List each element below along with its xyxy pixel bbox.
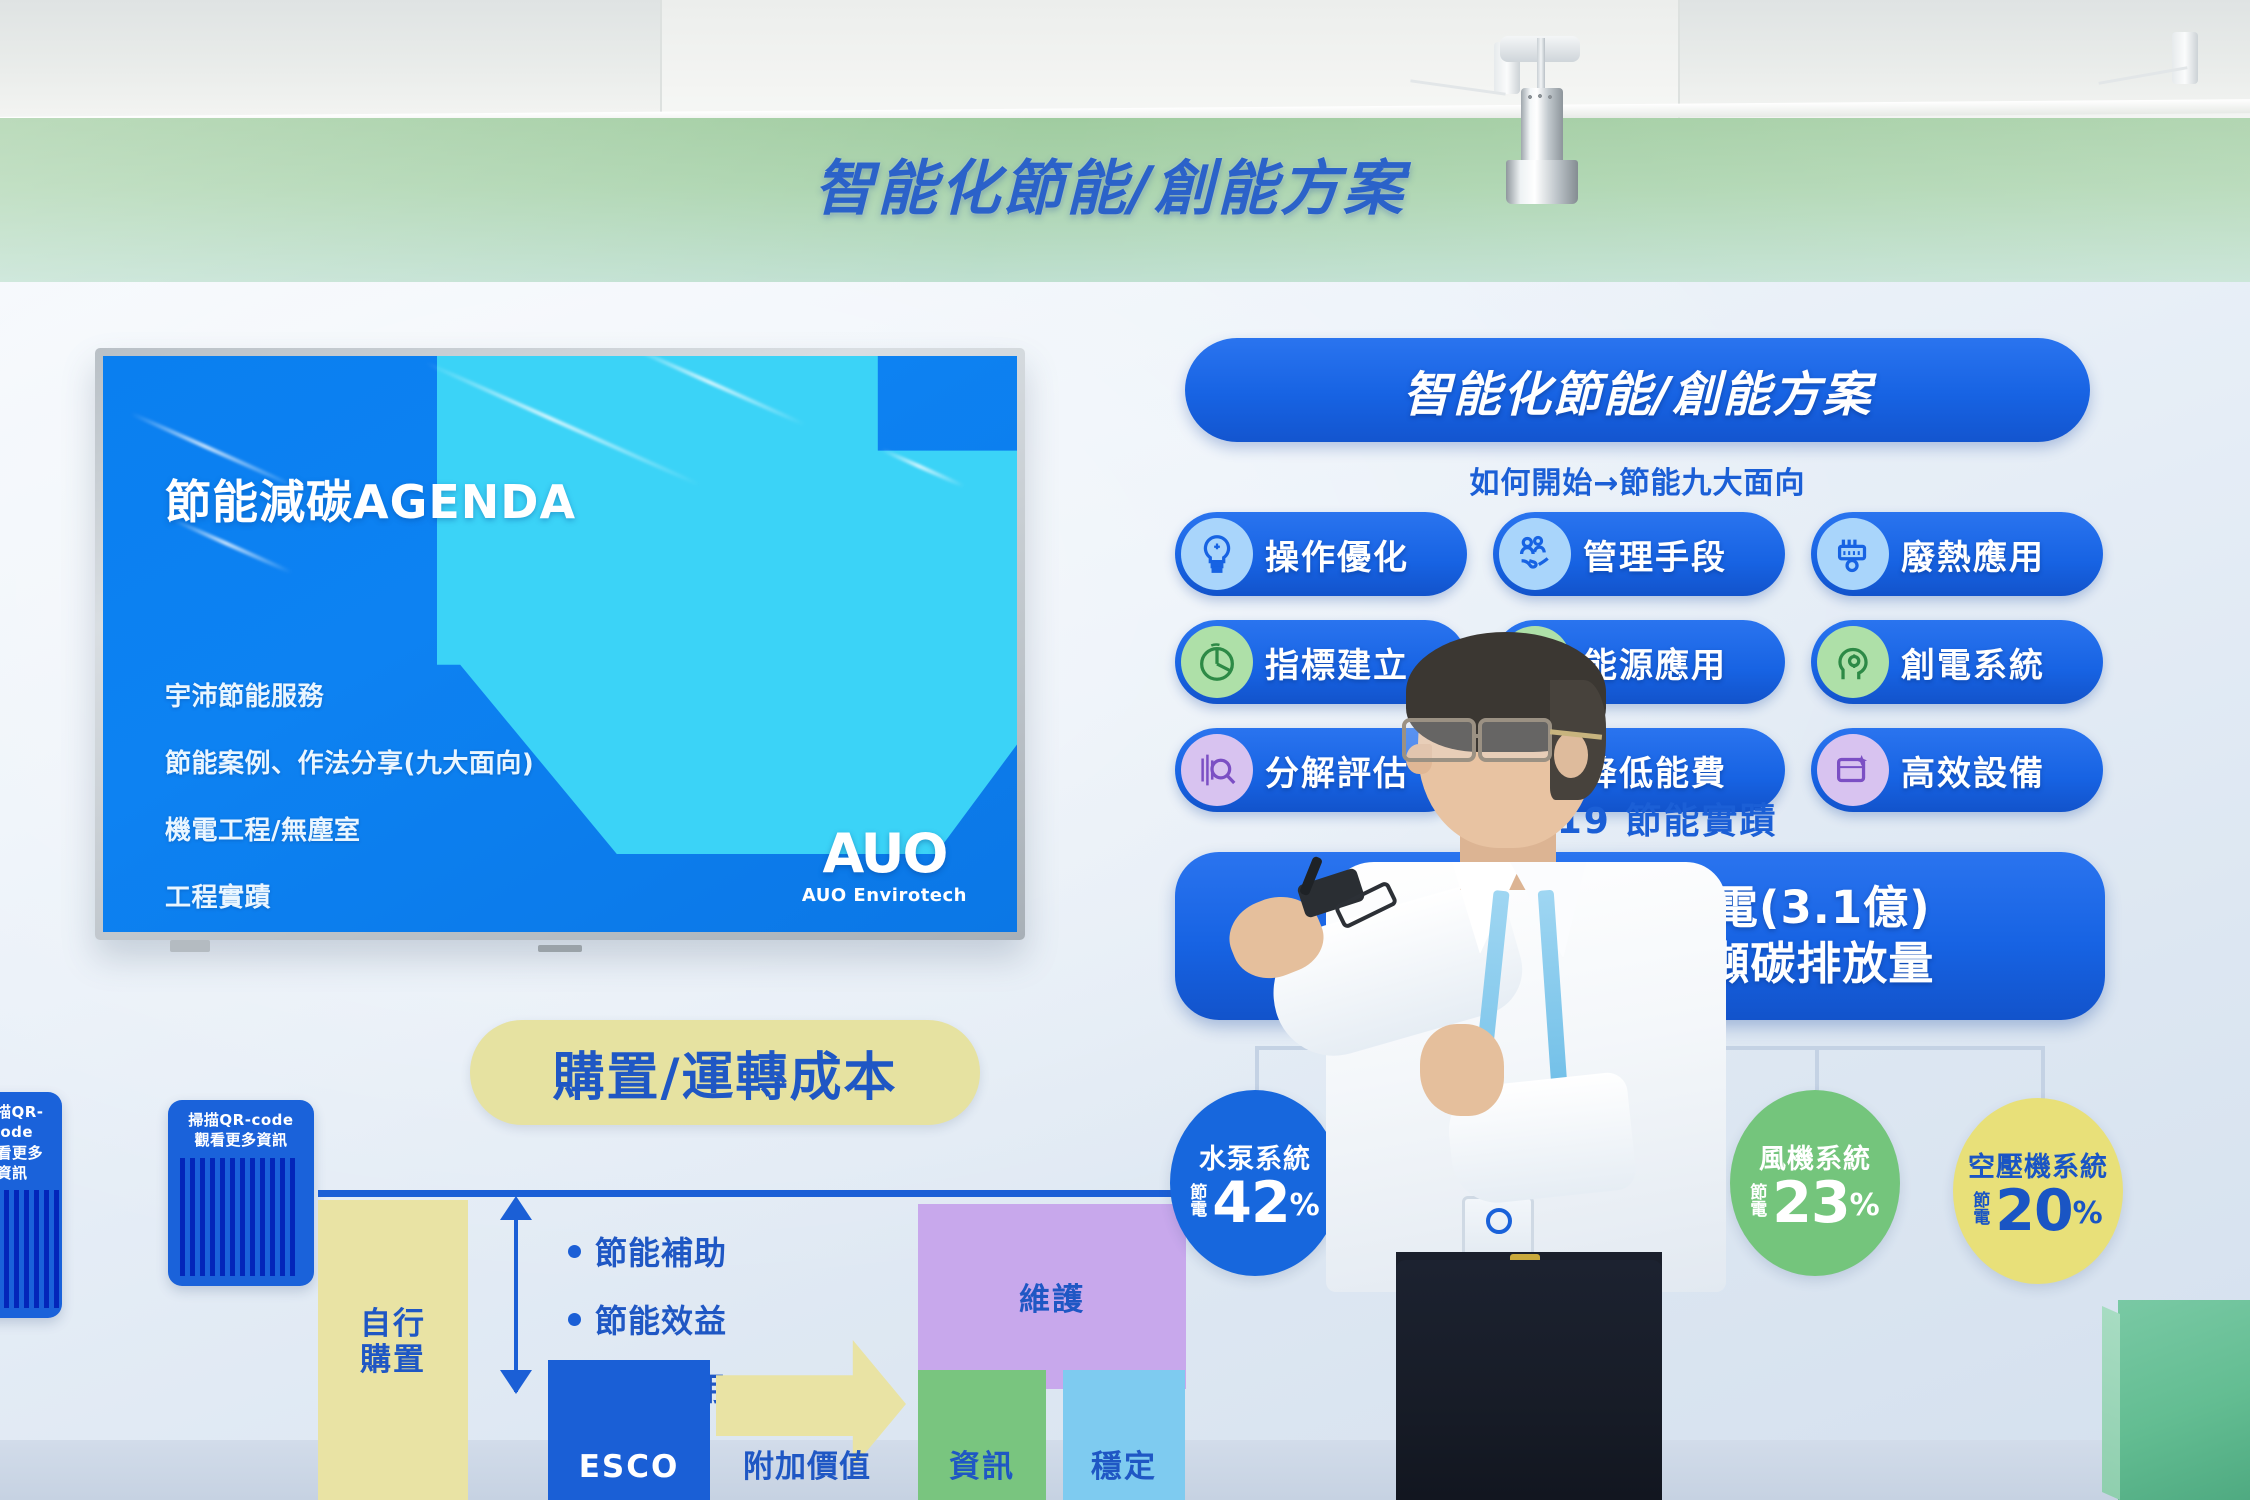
chart-baseline-top xyxy=(318,1190,1182,1197)
savings-arrow-down-head xyxy=(500,1370,532,1394)
tv-slide-title: 節能減碳AGENDA xyxy=(165,466,576,532)
bar-maintenance-label: 維護 xyxy=(1019,1274,1085,1319)
aspect-label-5: 創電系統 xyxy=(1901,638,2045,687)
people-hand-icon xyxy=(1499,518,1571,590)
cost-section-title: 購置/運轉成本 xyxy=(553,1035,898,1110)
poster-header-title: 智能化節能/創能方案 xyxy=(1403,355,1873,425)
tv-cable-clip xyxy=(170,940,210,952)
system-tag-0: 節電 xyxy=(1190,1185,1207,1219)
bar-information-label: 資訊 xyxy=(949,1450,1015,1500)
system-value-row-3: 節電 20 % xyxy=(1973,1186,2102,1237)
presenter-eyeglass-left xyxy=(1402,718,1476,762)
green-display-block xyxy=(2118,1300,2250,1500)
brain-head-icon xyxy=(1817,626,1889,698)
tv-screen: 節能減碳AGENDA 宇沛節能服務 節能案例、作法分享(九大面向) 機電工程/無… xyxy=(103,356,1017,932)
ceiling-clamp-right xyxy=(2172,32,2198,84)
presenter-badge-logo xyxy=(1486,1208,1512,1234)
factory-gear-icon xyxy=(1817,518,1889,590)
presenter xyxy=(1310,640,1740,1500)
system-value-row-2: 節電 23 % xyxy=(1750,1178,1879,1229)
system-unit-3: % xyxy=(2073,1196,2103,1231)
tv-bullet-3: 工程實蹟 xyxy=(165,877,534,914)
spotlight-vents xyxy=(1526,92,1558,102)
aspect-pill-power-generation-system[interactable]: 創電系統 xyxy=(1811,620,2103,704)
tv-slide-bullets: 宇沛節能服務 節能案例、作法分享(九大面向) 機電工程/無塵室 工程實蹟 xyxy=(165,676,534,932)
system-value-0: 42 xyxy=(1212,1178,1289,1229)
qr-card-right-line1: 掃描QR-code xyxy=(180,1110,302,1130)
lightbulb-icon xyxy=(1181,518,1253,590)
system-value-row-0: 節電 42 % xyxy=(1190,1178,1319,1229)
aspect-label-2: 廢熱應用 xyxy=(1901,530,2045,579)
presenter-trousers xyxy=(1396,1260,1662,1500)
aspect-pill-management-method[interactable]: 管理手段 xyxy=(1493,512,1785,596)
system-tag-3: 節電 xyxy=(1973,1193,1990,1227)
system-unit-2: % xyxy=(1850,1188,1880,1223)
presenter-left-hand xyxy=(1420,1024,1504,1116)
aspect-pill-waste-heat-application[interactable]: 廢熱應用 xyxy=(1811,512,2103,596)
pie-chart-icon xyxy=(1181,626,1253,698)
aspect-label-0: 操作優化 xyxy=(1265,530,1409,579)
poster-subheading: 如何開始→節能九大面向 xyxy=(1185,458,2090,502)
presenter-eyeglass-bridge xyxy=(1472,734,1482,738)
qr-card-left[interactable]: 掃描QR-code 觀看更多資訊 xyxy=(0,1092,62,1318)
savings-bullet-1: 節能效益 xyxy=(568,1296,727,1342)
qr-card-left-line2: 觀看更多資訊 xyxy=(0,1143,50,1184)
qr-card-right[interactable]: 掃描QR-code 觀看更多資訊 xyxy=(168,1100,314,1286)
bar-esco: ESCO xyxy=(548,1360,710,1500)
bar-stability-label: 穩定 xyxy=(1091,1450,1157,1500)
system-value-2: 23 xyxy=(1772,1178,1849,1229)
tv-bullet-2: 機電工程/無塵室 xyxy=(165,810,534,847)
auo-logo: AUO AUO Envirotech xyxy=(802,827,967,906)
auo-logo-mark: AUO xyxy=(802,827,967,881)
tv-ir-receiver xyxy=(538,945,582,952)
qr-code-image-right xyxy=(180,1158,298,1276)
bar-esco-label: ESCO xyxy=(579,1450,680,1500)
flow-drop-4 xyxy=(2041,1046,2045,1106)
savings-bullet-0: 節能補助 xyxy=(568,1228,727,1274)
presenter-eyeglass-right xyxy=(1478,718,1552,762)
exhibition-booth-scene: 智能化節能/創能方案 節能減碳AGENDA 宇沛節能服務 節能案例、作法分享(九… xyxy=(0,0,2250,1500)
system-circle-fan: 風機系統 節電 23 % xyxy=(1730,1090,1900,1276)
poster-header-pill: 智能化節能/創能方案 xyxy=(1185,338,2090,442)
cost-comparison-chart: 自行 購置 節能補助 節能效益 維護費用 ESCO 附加價值 維護 資訊 穩定 xyxy=(318,1190,1188,1500)
savings-arrow-shaft xyxy=(514,1202,518,1392)
presenter-ear xyxy=(1554,732,1588,778)
aspect-row-1: 操作優化 管理手段 廢熱應用 xyxy=(1175,512,2105,596)
bar-stability: 穩定 xyxy=(1063,1370,1185,1500)
tv-bullet-1: 節能案例、作法分享(九大面向) xyxy=(165,743,534,780)
aspect-label-1: 管理手段 xyxy=(1583,530,1727,579)
bar-self-purchase-label-l2: 購置 xyxy=(360,1342,426,1392)
bar-maintenance: 維護 xyxy=(918,1204,1186,1389)
aspect-label-8: 高效設備 xyxy=(1901,746,2045,795)
system-tag-2: 節電 xyxy=(1750,1185,1767,1219)
bar-added-value-label: 附加價值 xyxy=(722,1441,892,1486)
qr-card-right-line2: 觀看更多資訊 xyxy=(180,1130,302,1150)
auo-logo-subtitle: AUO Envirotech xyxy=(802,885,967,906)
bar-self-purchase-label: 自行 購置 xyxy=(360,1307,426,1392)
bar-information: 資訊 xyxy=(918,1370,1046,1500)
qr-code-image-left xyxy=(0,1190,60,1308)
system-circle-air-compressor: 空壓機系統 節電 20 % xyxy=(1953,1098,2123,1284)
tv-bullet-0: 宇沛節能服務 xyxy=(165,676,534,713)
system-value-3: 20 xyxy=(1995,1186,2072,1237)
bar-self-purchase: 自行 購置 xyxy=(318,1200,468,1500)
aspect-pill-operation-optimization[interactable]: 操作優化 xyxy=(1175,512,1467,596)
qr-card-left-line1: 掃描QR-code xyxy=(0,1102,50,1143)
presentation-tv: 節能減碳AGENDA 宇沛節能服務 節能案例、作法分享(九大面向) 機電工程/無… xyxy=(95,348,1025,940)
cost-section-title-pill: 購置/運轉成本 xyxy=(470,1020,980,1125)
venue-banner-title: 智能化節能/創能方案 xyxy=(700,140,1520,227)
